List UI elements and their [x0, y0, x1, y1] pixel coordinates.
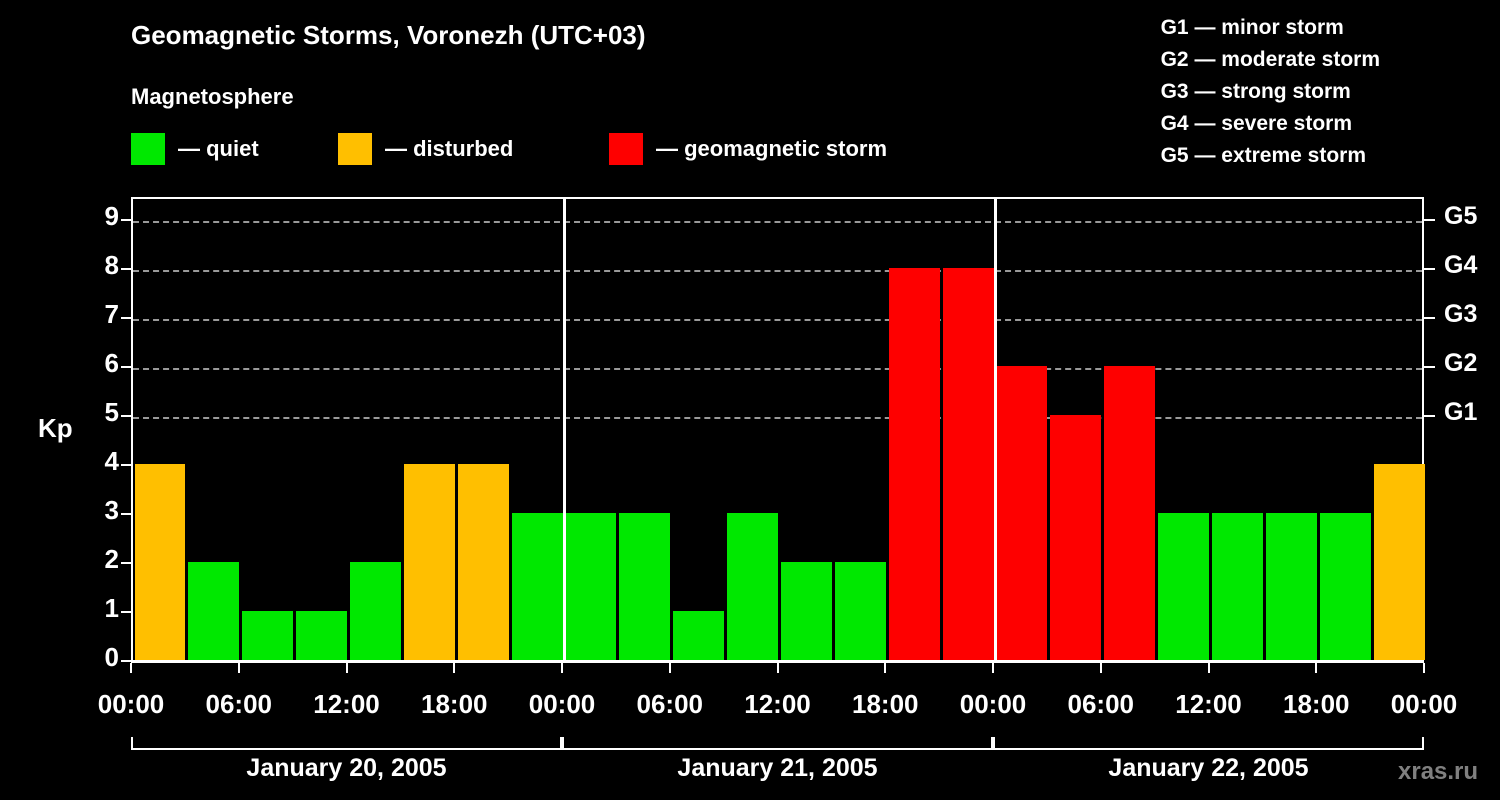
- x-tick-mark: [130, 663, 132, 673]
- g-legend-row-3: G3 — strong storm: [1161, 76, 1380, 108]
- y-tick-label: 9: [85, 201, 119, 232]
- y-tick-mark: [121, 268, 131, 270]
- x-tick-label: 00:00: [529, 689, 596, 720]
- bar-kp-1: [188, 562, 239, 660]
- bar-kp-13: [835, 562, 886, 660]
- x-tick-label: 12:00: [744, 689, 811, 720]
- x-tick-mark: [884, 663, 886, 673]
- x-tick-mark: [777, 663, 779, 673]
- g-tick-label-G4: G4: [1444, 251, 1477, 280]
- y-axis-title: Kp: [38, 413, 73, 444]
- bar-kp-8: [566, 513, 617, 660]
- bar-kp-23: [1374, 464, 1425, 660]
- magnetosphere-label: Magnetosphere: [131, 84, 294, 110]
- x-tick-mark: [561, 663, 563, 673]
- x-tick-label: 18:00: [1283, 689, 1350, 720]
- g-tick-label-G1: G1: [1444, 398, 1477, 427]
- y-tick-mark: [121, 317, 131, 319]
- date-bracket-2: [562, 737, 993, 750]
- g-legend-row-1: G1 — minor storm: [1161, 12, 1380, 44]
- y-tick-label: 2: [85, 544, 119, 575]
- date-label-3: January 22, 2005: [1108, 754, 1308, 783]
- x-tick-mark: [1100, 663, 1102, 673]
- x-tick-label: 12:00: [313, 689, 380, 720]
- legend-label-quiet: — quiet: [178, 136, 259, 162]
- date-label-2: January 21, 2005: [677, 754, 877, 783]
- x-tick-label: 18:00: [421, 689, 488, 720]
- bar-kp-12: [781, 562, 832, 660]
- bar-kp-18: [1104, 366, 1155, 660]
- y-tick-label: 3: [85, 495, 119, 526]
- plot-inner: [133, 199, 1422, 660]
- bar-kp-5: [404, 464, 455, 660]
- x-tick-mark: [1423, 663, 1425, 673]
- y-tick-mark: [121, 660, 131, 662]
- bar-kp-16: [997, 366, 1048, 660]
- g-tick-label-G3: G3: [1444, 300, 1477, 329]
- g-tick-label-G5: G5: [1444, 202, 1477, 231]
- x-tick-label: 06:00: [1068, 689, 1135, 720]
- gridline-kp-6: [133, 368, 1422, 370]
- legend-entry-storm: — geomagnetic storm: [609, 132, 887, 166]
- g-tick-mark: [1424, 317, 1435, 319]
- legend-swatch-quiet-icon: [131, 133, 165, 165]
- x-tick-label: 12:00: [1175, 689, 1242, 720]
- y-tick-mark: [121, 415, 131, 417]
- g-tick-mark: [1424, 415, 1435, 417]
- date-bracket-1: [131, 737, 562, 750]
- legend-swatch-disturbed-icon: [338, 133, 372, 165]
- x-tick-label: 00:00: [98, 689, 165, 720]
- y-tick-mark: [121, 611, 131, 613]
- bar-kp-7: [512, 513, 563, 660]
- y-tick-label: 0: [85, 642, 119, 673]
- day-separator-2: [994, 199, 997, 660]
- x-tick-label: 18:00: [852, 689, 919, 720]
- legend-entry-disturbed: — disturbed: [338, 132, 513, 166]
- g-tick-mark: [1424, 219, 1435, 221]
- g-scale-legend: G1 — minor stormG2 — moderate stormG3 — …: [1161, 12, 1380, 172]
- gridline-kp-7: [133, 319, 1422, 321]
- x-tick-mark: [1208, 663, 1210, 673]
- watermark: xras.ru: [1398, 758, 1478, 786]
- bar-kp-2: [242, 611, 293, 660]
- x-tick-mark: [346, 663, 348, 673]
- bar-kp-15: [943, 268, 994, 660]
- g-tick-mark: [1424, 366, 1435, 368]
- bar-kp-17: [1050, 415, 1101, 660]
- date-label-1: January 20, 2005: [246, 754, 446, 783]
- x-tick-label: 06:00: [637, 689, 704, 720]
- y-tick-label: 8: [85, 250, 119, 281]
- legend-label-disturbed: — disturbed: [385, 136, 513, 162]
- g-legend-row-2: G2 — moderate storm: [1161, 44, 1380, 76]
- x-tick-label: 00:00: [1391, 689, 1458, 720]
- g-legend-row-5: G5 — extreme storm: [1161, 140, 1380, 172]
- gridline-kp-5: [133, 417, 1422, 419]
- gridline-kp-8: [133, 270, 1422, 272]
- y-tick-mark: [121, 366, 131, 368]
- day-separator-1: [563, 199, 566, 660]
- bar-kp-19: [1158, 513, 1209, 660]
- y-tick-mark: [121, 464, 131, 466]
- g-tick-mark: [1424, 268, 1435, 270]
- bar-kp-10: [673, 611, 724, 660]
- x-tick-mark: [453, 663, 455, 673]
- bar-kp-6: [458, 464, 509, 660]
- x-tick-label: 06:00: [206, 689, 273, 720]
- g-tick-label-G2: G2: [1444, 349, 1477, 378]
- gridline-kp-9: [133, 221, 1422, 223]
- plot-area: [131, 197, 1424, 663]
- bar-kp-21: [1266, 513, 1317, 660]
- y-tick-label: 5: [85, 397, 119, 428]
- y-tick-mark: [121, 513, 131, 515]
- legend-label-storm: — geomagnetic storm: [656, 136, 887, 162]
- y-tick-label: 4: [85, 446, 119, 477]
- x-tick-mark: [992, 663, 994, 673]
- bar-kp-3: [296, 611, 347, 660]
- x-tick-mark: [238, 663, 240, 673]
- page-title: Geomagnetic Storms, Voronezh (UTC+03): [131, 20, 646, 51]
- x-tick-label: 00:00: [960, 689, 1027, 720]
- date-bracket-3: [993, 737, 1424, 750]
- x-tick-mark: [1315, 663, 1317, 673]
- legend-swatch-storm-icon: [609, 133, 643, 165]
- bar-kp-4: [350, 562, 401, 660]
- bar-kp-11: [727, 513, 778, 660]
- y-tick-label: 6: [85, 348, 119, 379]
- x-tick-mark: [669, 663, 671, 673]
- bar-kp-14: [889, 268, 940, 660]
- g-legend-row-4: G4 — severe storm: [1161, 108, 1380, 140]
- y-tick-label: 7: [85, 299, 119, 330]
- y-tick-mark: [121, 562, 131, 564]
- bar-kp-0: [135, 464, 186, 660]
- y-tick-mark: [121, 219, 131, 221]
- legend-entry-quiet: — quiet: [131, 132, 259, 166]
- bar-kp-22: [1320, 513, 1371, 660]
- bar-kp-20: [1212, 513, 1263, 660]
- y-tick-label: 1: [85, 593, 119, 624]
- bar-kp-9: [619, 513, 670, 660]
